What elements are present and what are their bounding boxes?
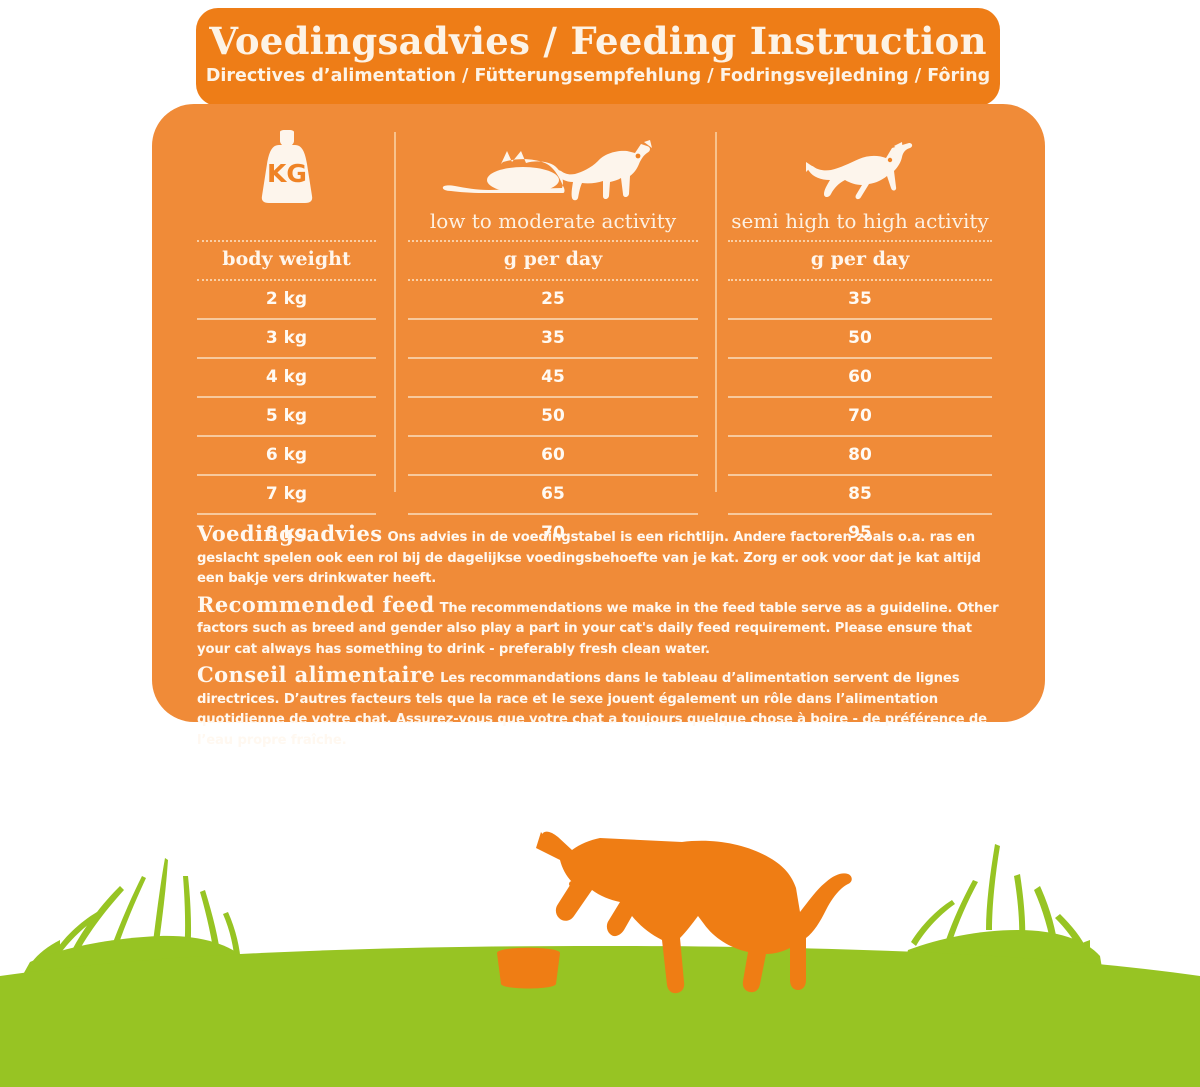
weight-activity-spacer [197,206,376,240]
advice-heading-fr: Conseil alimentaire [197,662,435,687]
cell-weight-5: 7 kg [197,476,376,513]
advice-block-en: Recommended feedThe recommendations we m… [197,595,1009,661]
advice-heading-nl: Voedingsadvies [197,521,382,546]
feeding-table: KG body weight 2 kg 3 kg 4 kg 5 kg 6 kg … [197,126,1007,521]
lying-cat-and-standing-cat-icon [408,126,698,206]
feeding-instruction-banner: Voedingsadvies / Feeding Instruction Dir… [196,8,1000,106]
cell-high-4: 80 [728,437,992,474]
cell-high-2: 60 [728,359,992,396]
activity-label-semi-high-high: semi high to high activity [728,206,992,240]
svg-text:KG: KG [267,159,307,188]
scenery-illustration [0,820,1200,1087]
activity-label-low-moderate: low to moderate activity [408,206,698,240]
subhead-body-weight: body weight [197,242,376,279]
cell-low-3: 50 [408,398,698,435]
page-subtitle: Directives d’alimentation / Fütterungsem… [196,65,1000,87]
advice-section: VoedingsadviesOns advies in de voedingst… [197,524,1009,756]
column-body-weight: KG body weight 2 kg 3 kg 4 kg 5 kg 6 kg … [197,126,393,521]
cell-weight-0: 2 kg [197,281,376,318]
cell-weight-3: 5 kg [197,398,376,435]
kg-weight-icon: KG [197,126,376,206]
food-bowl-icon [497,948,560,989]
green-hill [0,946,1200,1087]
cell-low-5: 65 [408,476,698,513]
cell-weight-4: 6 kg [197,437,376,474]
cell-weight-2: 4 kg [197,359,376,396]
column-low-moderate-activity: low to moderate activity g per day 25 35… [393,126,713,521]
advice-heading-en: Recommended feed [197,592,435,617]
running-cat-icon [728,126,992,206]
cell-low-0: 25 [408,281,698,318]
cell-high-1: 50 [728,320,992,357]
cell-low-2: 45 [408,359,698,396]
page-title: Voedingsadvies / Feeding Instruction [196,20,1000,62]
cell-high-0: 35 [728,281,992,318]
column-semi-high-high-activity: semi high to high activity g per day 35 … [713,126,1007,521]
cell-high-3: 70 [728,398,992,435]
cell-weight-1: 3 kg [197,320,376,357]
feeding-advice-card: KG body weight 2 kg 3 kg 4 kg 5 kg 6 kg … [152,104,1045,722]
advice-block-fr: Conseil alimentaireLes recommandations d… [197,665,1009,751]
cell-low-4: 60 [408,437,698,474]
cell-low-1: 35 [408,320,698,357]
subhead-g-per-day-low: g per day [408,242,698,279]
subhead-g-per-day-high: g per day [728,242,992,279]
advice-block-nl: VoedingsadviesOns advies in de voedingst… [197,524,1009,590]
cell-high-5: 85 [728,476,992,513]
